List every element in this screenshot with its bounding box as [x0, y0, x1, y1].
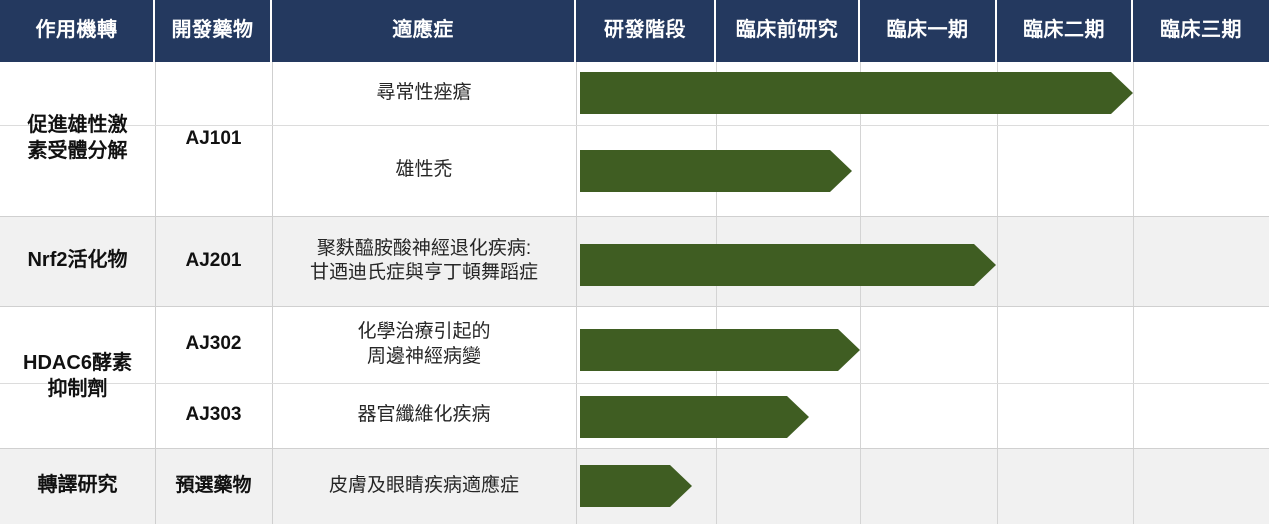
column-header-indication: 適應症 — [272, 0, 576, 62]
mechanism-cell-1: Nrf2活化物 — [0, 216, 155, 306]
column-header-moa: 作用機轉 — [0, 0, 155, 62]
progress-arrow-3 — [580, 329, 860, 371]
column-header-phase1: 臨床一期 — [860, 0, 997, 62]
column-header-stage: 研發階段 — [576, 0, 716, 62]
progress-arrow-1 — [580, 150, 852, 192]
indication-cell-3: 化學治療引起的周邊神經病變 — [272, 306, 576, 383]
progress-arrow-4 — [580, 396, 809, 438]
progress-arrow-5 — [580, 465, 692, 507]
column-divider-preclinical — [716, 62, 717, 524]
drug-cell-2: AJ302 — [155, 306, 272, 383]
indication-cell-0: 尋常性痤瘡 — [272, 62, 576, 125]
mechanism-cell-2: HDAC6酵素抑制劑 — [0, 306, 155, 448]
column-divider-phase3 — [1133, 62, 1134, 524]
column-header-phase3: 臨床三期 — [1133, 0, 1269, 62]
column-divider-phase2 — [997, 62, 998, 524]
drug-cell-0: AJ101 — [155, 62, 272, 216]
progress-arrow-0 — [580, 72, 1133, 114]
indication-cell-2: 聚麩醯胺酸神經退化疾病:甘迺迪氏症與亨丁頓舞蹈症 — [272, 216, 576, 306]
indication-cell-1: 雄性禿 — [272, 125, 576, 216]
mechanism-cell-0: 促進雄性激素受體分解 — [0, 62, 155, 216]
progress-arrow-2 — [580, 244, 996, 286]
indication-cell-4: 器官纖維化疾病 — [272, 383, 576, 448]
indication-cell-5: 皮膚及眼睛疾病適應症 — [272, 448, 576, 524]
mechanism-cell-3: 轉譯研究 — [0, 448, 155, 524]
column-divider-stage — [576, 62, 577, 524]
drug-cell-1: AJ201 — [155, 216, 272, 306]
drug-cell-4: 預選藥物 — [155, 448, 272, 524]
drug-cell-3: AJ303 — [155, 383, 272, 448]
column-divider-phase1 — [860, 62, 861, 524]
column-header-phase2: 臨床二期 — [997, 0, 1133, 62]
column-header-preclinical: 臨床前研究 — [716, 0, 860, 62]
column-header-drug: 開發藥物 — [155, 0, 272, 62]
pipeline-chart: 作用機轉開發藥物適應症研發階段臨床前研究臨床一期臨床二期臨床三期促進雄性激素受體… — [0, 0, 1269, 524]
